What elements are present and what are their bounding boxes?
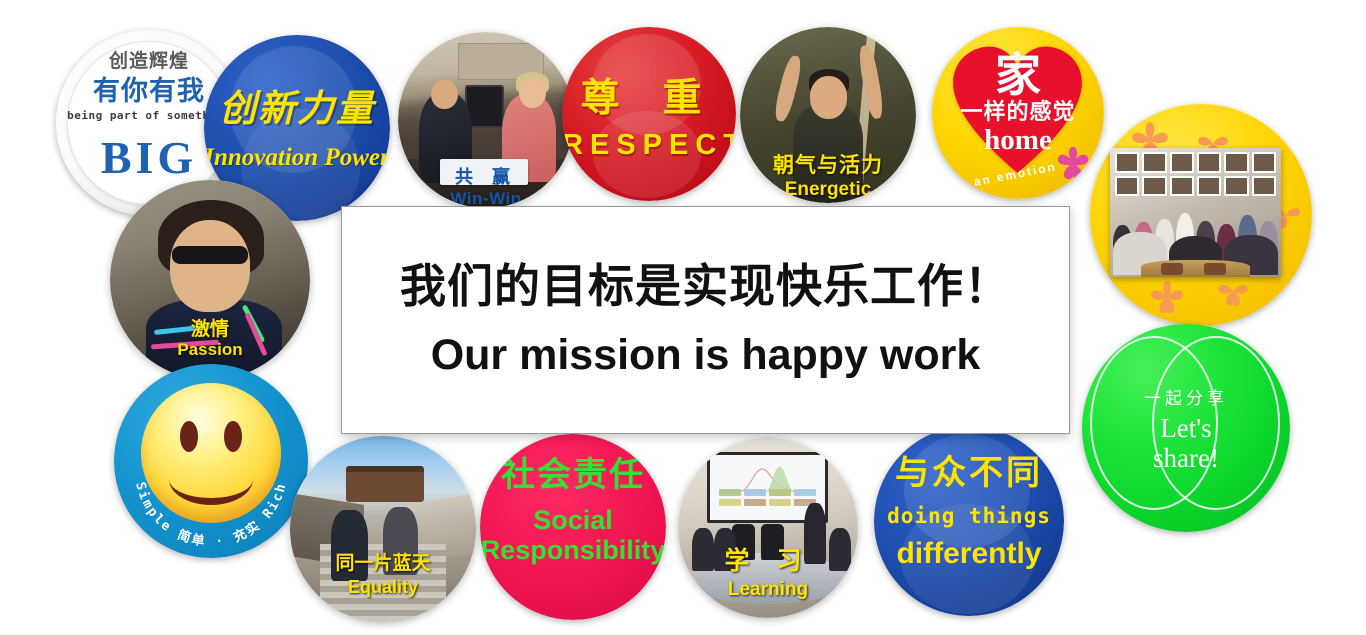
photo-temple (346, 466, 424, 502)
photo-presenter (804, 503, 826, 564)
photo-person-right-head (519, 78, 545, 108)
mission-banner-line-cn: 我们的目标是实现快乐工作！ (400, 260, 1011, 313)
badge-background (480, 434, 666, 620)
flower-icon (1046, 137, 1100, 191)
mission-banner-line-en: Our mission is happy work (431, 331, 981, 380)
gloss-highlight-bottom (593, 111, 701, 198)
photo-head (810, 76, 847, 118)
photo-person-1 (331, 510, 368, 581)
photo-cake-left (1161, 263, 1183, 275)
badge-simple-rich-smiley[interactable]: Simple 简单 · 充实 Rich (114, 364, 308, 558)
photo-cake-right (1204, 263, 1226, 275)
photo-person-left-head (431, 80, 457, 110)
photo-sunglasses (172, 246, 248, 264)
mission-banner: 我们的目标是实现快乐工作！ Our mission is happy work (341, 206, 1070, 434)
photo-table (1141, 260, 1250, 277)
badge-doing-things-differently[interactable]: 与众不同 doing things differently (874, 426, 1064, 616)
photo-chair-2 (761, 524, 784, 560)
photo-attendee-2 (714, 528, 736, 571)
venn-circle-right (1152, 336, 1280, 510)
culture-values-poster: 创造辉煌 有你有我 being part of something BIG 创新… (0, 0, 1366, 635)
photo-slide-swatches (719, 489, 816, 506)
photo-face (170, 220, 250, 312)
badge-background (562, 27, 736, 201)
family-photo (1110, 148, 1281, 277)
badge-energetic[interactable]: 朝气与活力 Energetic (740, 27, 916, 203)
sweater-stripe-4 (244, 312, 267, 356)
badge-family-group-photo[interactable] (1090, 104, 1312, 326)
energetic-photo (740, 27, 916, 203)
photo-attendee-3 (829, 528, 851, 571)
learning-photo (678, 438, 858, 618)
gloss-highlight-bottom (901, 504, 1034, 614)
photo-arm-left (773, 54, 805, 123)
photo-wall-frames (1115, 152, 1276, 196)
photo-attendee-1 (692, 528, 714, 571)
badge-win-win[interactable]: 共 赢 Win-Win (398, 32, 574, 208)
smile-arc-text: Simple 简单 · 充实 Rich (114, 364, 308, 558)
flower-icon-bottom-left (1142, 272, 1192, 322)
smile-arc-label: Simple 简单 · 充实 Rich (132, 481, 290, 550)
sweater-stripe-1 (154, 324, 211, 335)
sweater-stripe-2 (151, 339, 219, 349)
badge-equality[interactable]: 同一片蓝天 Equality (290, 436, 476, 622)
winwin-photo (398, 32, 574, 208)
svg-text:Simple 简单 · 充实 Rich: Simple 简单 · 充实 Rich (132, 481, 290, 550)
photo-body (793, 106, 863, 203)
badge-lets-share[interactable]: 一起分享 Let's share! (1082, 324, 1290, 532)
badge-passion[interactable]: 激情 Passion (110, 180, 310, 380)
passion-photo (110, 180, 310, 380)
photo-person-2 (383, 507, 418, 576)
badge-home-is-an-emotion[interactable]: 家 一样的感觉 home is an emotion (932, 27, 1104, 199)
badge-social-responsibility[interactable]: 社会责任 Social Responsibility (480, 434, 666, 620)
badge-learning[interactable]: 学 习 Learning (678, 438, 858, 618)
badge-respect[interactable]: 尊 重 RESPECT (562, 27, 736, 201)
equality-photo (290, 436, 476, 622)
badge-background (874, 426, 1064, 616)
photo-name-card (440, 159, 528, 185)
